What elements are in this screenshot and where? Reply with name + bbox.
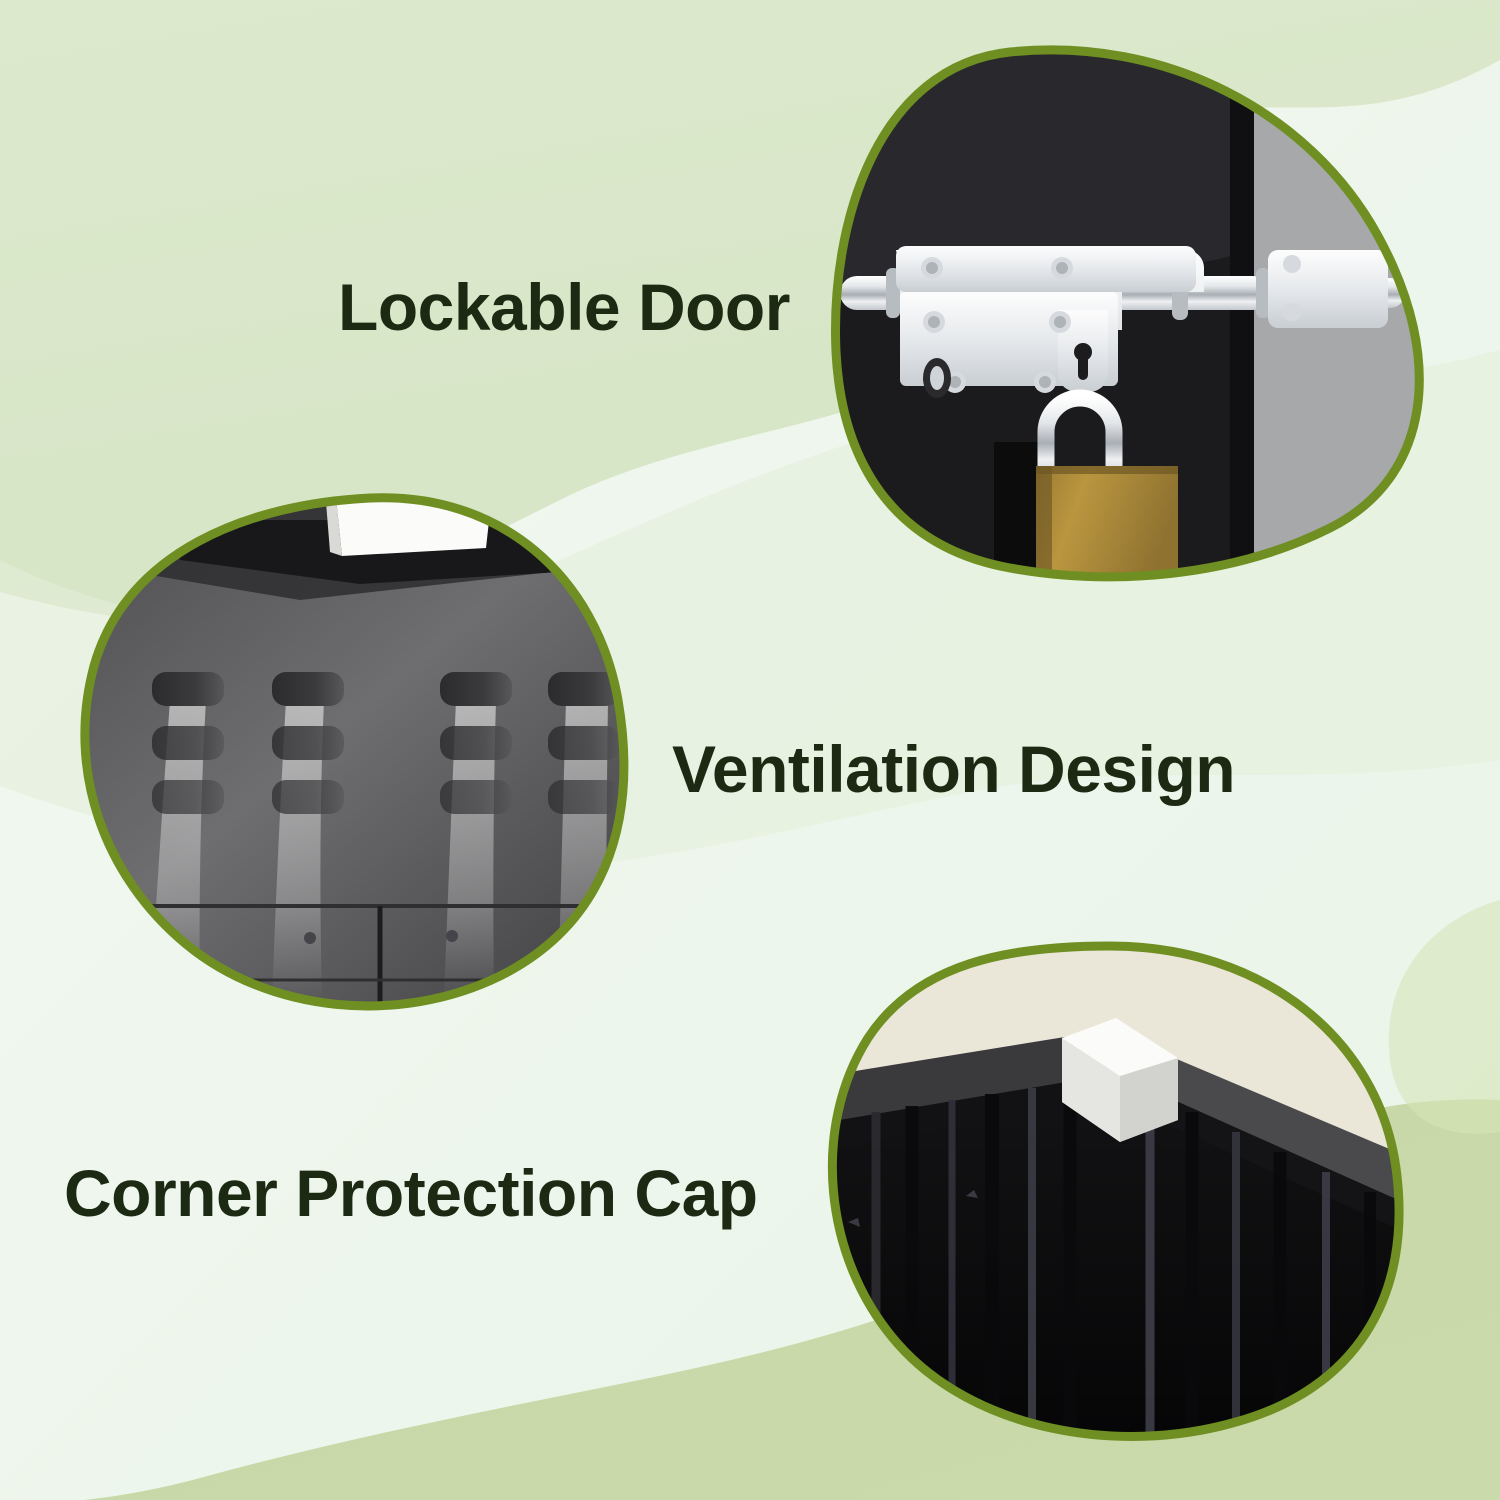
feature-label-lockable-door: Lockable Door	[338, 274, 790, 340]
feature-label-ventilation-design: Ventilation Design	[672, 736, 1235, 802]
feature-label-corner-protection-cap: Corner Protection Cap	[64, 1160, 758, 1226]
infographic-canvas: Lockable Door Ventilation Design Corner …	[0, 0, 1500, 1500]
